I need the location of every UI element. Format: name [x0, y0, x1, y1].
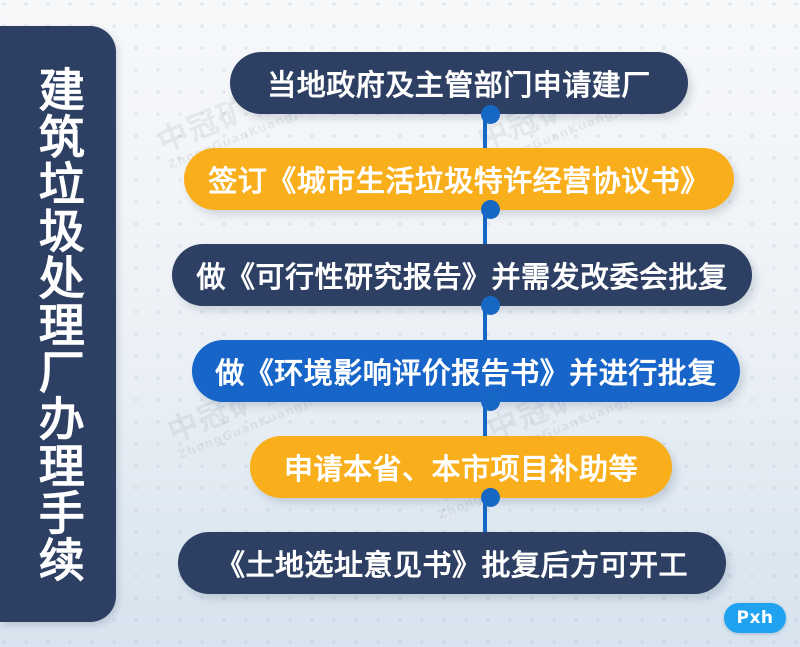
flow-step-6[interactable]: 《土地选址意见书》批复后方可开工 [178, 532, 726, 594]
page-title: 建筑垃圾处理厂办理手续 [33, 66, 82, 583]
flow-step-3-label: 做《可行性研究报告》并需发改委会批复 [196, 254, 727, 296]
flow-step-5-label: 申请本省、本市项目补助等 [284, 446, 638, 488]
flow-step-2-label: 签订《城市生活垃圾特许经营协议书》 [208, 158, 710, 200]
connector-node-3 [481, 296, 500, 315]
pxh-logo-badge[interactable]: Pxh [724, 603, 786, 633]
connector-node-4 [481, 392, 500, 411]
connector-node-2 [481, 200, 500, 219]
flow-chart: 当地政府及主管部门申请建厂 签订《城市生活垃圾特许经营协议书》 做《可行性研究报… [116, 0, 800, 647]
connector-node-1 [481, 105, 500, 124]
pxh-logo-label: Pxh [736, 608, 773, 628]
flow-step-5[interactable]: 申请本省、本市项目补助等 [250, 436, 672, 498]
connector-node-5 [481, 488, 500, 507]
flow-step-3[interactable]: 做《可行性研究报告》并需发改委会批复 [172, 244, 752, 306]
infographic-poster: 中冠矿机 ZhongGuanKuangJi 中冠矿机 ZhongGuanKuan… [0, 0, 800, 647]
flow-step-4[interactable]: 做《环境影响评价报告书》并进行批复 [192, 340, 740, 402]
flow-step-6-label: 《土地选址意见书》批复后方可开工 [216, 542, 688, 584]
vertical-title-bar: 建筑垃圾处理厂办理手续 [0, 26, 116, 622]
flow-step-1-label: 当地政府及主管部门申请建厂 [267, 62, 651, 104]
flow-step-1[interactable]: 当地政府及主管部门申请建厂 [230, 52, 688, 114]
flow-step-4-label: 做《环境影响评价报告书》并进行批复 [215, 350, 717, 392]
flow-step-2[interactable]: 签订《城市生活垃圾特许经营协议书》 [184, 148, 734, 210]
